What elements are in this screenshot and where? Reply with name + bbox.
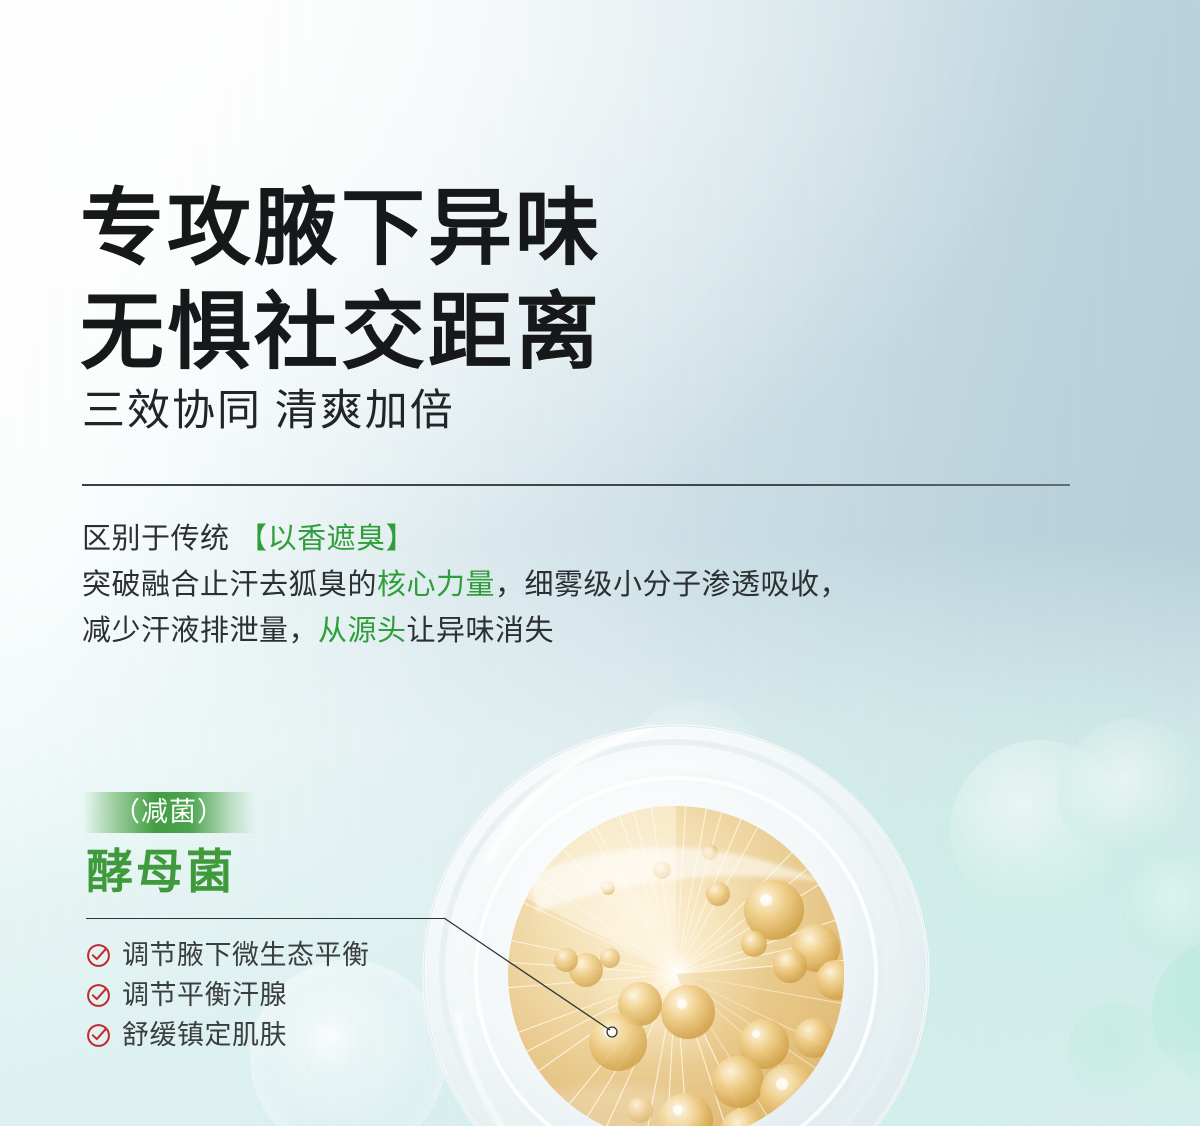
body-line-2-highlight: 核心力量 — [377, 569, 495, 601]
section-divider — [82, 484, 1070, 486]
ingredient-name: 酵母菌 — [86, 845, 236, 901]
body-line-3-prefix: 减少汗液排泄量， — [82, 615, 318, 647]
bokeh-circle — [1028, 820, 1120, 912]
list-item: 调节平衡汗腺 — [86, 975, 516, 1015]
bokeh-circle — [1152, 938, 1200, 1088]
page-subtitle: 三效协同 清爽加倍 — [82, 384, 455, 440]
promo-page: 专攻腋下异味无惧社交距离 三效协同 清爽加倍 区别于传统 【以香遮臭】 突破融合… — [0, 0, 1200, 1126]
body-line-3: 减少汗液排泄量，从源头让异味消失 — [82, 608, 1062, 654]
page-title: 专攻腋下异味无惧社交距离 — [80, 178, 900, 386]
product-image — [418, 712, 938, 1126]
body-line-2-prefix: 突破融合止汗去狐臭的 — [82, 569, 377, 601]
body-line-1-prefix: 区别于传统 — [82, 523, 238, 555]
headline-line-1: 专攻腋下异味 — [80, 183, 602, 276]
body-copy: 区别于传统 【以香遮臭】 突破融合止汗去狐臭的核心力量，细雾级小分子渗透吸收， … — [82, 516, 1062, 654]
bokeh-circle — [1122, 852, 1200, 964]
ingredient-badge: （减菌） — [83, 792, 255, 833]
body-line-3-suffix: 让异味消失 — [407, 615, 555, 647]
check-circle-icon — [86, 983, 111, 1008]
body-line-2: 突破融合止汗去狐臭的核心力量，细雾级小分子渗透吸收， — [82, 562, 1062, 608]
benefit-label: 舒缓镇定肌肤 — [122, 1022, 287, 1049]
benefit-label: 调节平衡汗腺 — [122, 982, 287, 1009]
check-circle-icon — [86, 1023, 111, 1048]
body-line-1-highlight: 【以香遮臭】 — [238, 523, 415, 555]
body-line-1: 区别于传统 【以香遮臭】 — [82, 516, 1062, 562]
bokeh-circle — [1068, 1002, 1166, 1100]
bokeh-circle — [1058, 718, 1200, 868]
benefit-list: 调节腋下微生态平衡 调节平衡汗腺 舒缓镇定肌肤 — [86, 935, 516, 1055]
list-item: 调节腋下微生态平衡 — [86, 935, 516, 975]
ingredient-badge-label: （减菌） — [113, 799, 225, 826]
benefit-label: 调节腋下微生态平衡 — [122, 942, 370, 969]
list-item: 舒缓镇定肌肤 — [86, 1015, 516, 1055]
check-circle-icon — [86, 943, 111, 968]
body-line-2-suffix: ，细雾级小分子渗透吸收， — [495, 569, 849, 601]
body-line-3-highlight: 从源头 — [318, 615, 407, 647]
bokeh-circle — [1136, 1048, 1200, 1126]
headline-line-2: 无惧社交距离 — [80, 287, 602, 380]
ingredient-underline — [86, 918, 444, 919]
bokeh-circle — [950, 740, 1130, 920]
